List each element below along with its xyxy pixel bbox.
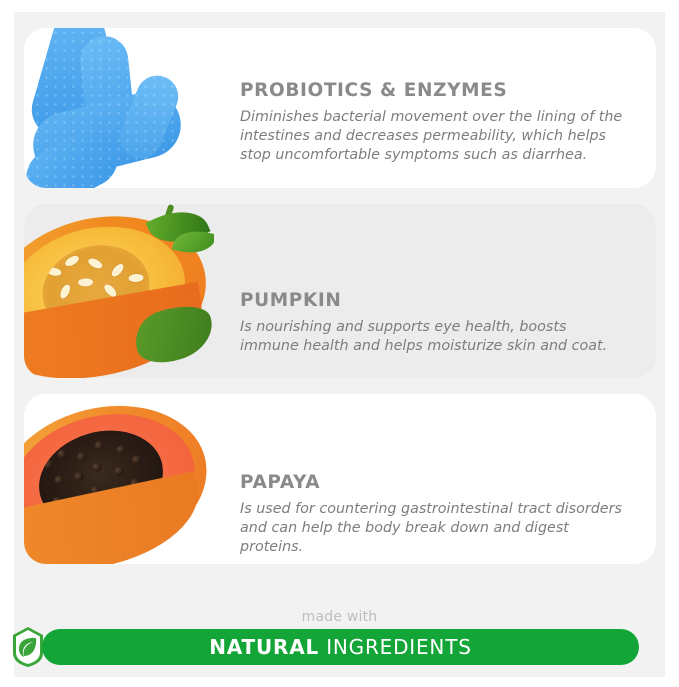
card-body-pumpkin: PUMPKIN Is nourishing and supports eye h… [219,204,638,378]
papaya-half-image [24,394,214,564]
papaya-seed [94,440,105,451]
ingredient-card-papaya: PAPAYA Is used for countering gastrointe… [24,394,656,564]
natural-ingredients-banner: NATURAL INGREDIENTS [42,629,639,665]
card-body-papaya: PAPAYA Is used for countering gastrointe… [219,394,638,564]
frame-edge-left [0,0,14,687]
frame-edge-right [665,0,679,687]
card-title-probiotics: PROBIOTICS & ENZYMES [240,80,507,101]
pumpkin-seed [58,283,72,300]
ingredient-card-pumpkin: PUMPKIN Is nourishing and supports eye h… [24,204,656,378]
pumpkin-seed [128,273,144,282]
banner-text: NATURAL INGREDIENTS [209,635,471,659]
papaya-seed [54,475,65,486]
ingredients-infographic: PROBIOTICS & ENZYMES Diminishes bacteria… [0,0,679,687]
papaya-seed [113,466,124,477]
banner-text-light: INGREDIENTS [319,635,472,659]
pumpkin-seed [78,278,93,287]
card-title-pumpkin: PUMPKIN [240,290,341,311]
ingredient-card-list: PROBIOTICS & ENZYMES Diminishes bacteria… [24,28,656,580]
papaya-seed [57,449,68,460]
papaya-seed [43,459,54,470]
card-title-papaya: PAPAYA [240,472,320,493]
pumpkin-seed [110,262,126,279]
pumpkin-seed [87,257,104,271]
banner-text-strong: NATURAL [209,635,319,659]
papaya-seed [76,451,87,462]
footer: made with NATURAL INGREDIENTS [0,595,679,687]
card-body-probiotics: PROBIOTICS & ENZYMES Diminishes bacteria… [219,28,638,188]
frame-edge-top [0,0,679,12]
papaya-seed [116,444,127,455]
probiotics-blue-bacteria-image [24,28,214,188]
pumpkin-seed [46,266,62,277]
ingredient-card-probiotics: PROBIOTICS & ENZYMES Diminishes bacteria… [24,28,656,188]
papaya-seed [131,454,142,465]
made-with-label: made with [0,609,679,625]
card-description-papaya: Is used for countering gastrointestinal … [240,500,635,557]
card-description-probiotics: Diminishes bacterial movement over the l… [240,108,635,165]
papaya-seed [92,462,103,473]
pumpkin-seed [64,254,81,268]
pumpkin-slice-image [24,204,214,378]
papaya-seed [73,471,84,482]
card-description-pumpkin: Is nourishing and supports eye health, b… [240,318,618,356]
